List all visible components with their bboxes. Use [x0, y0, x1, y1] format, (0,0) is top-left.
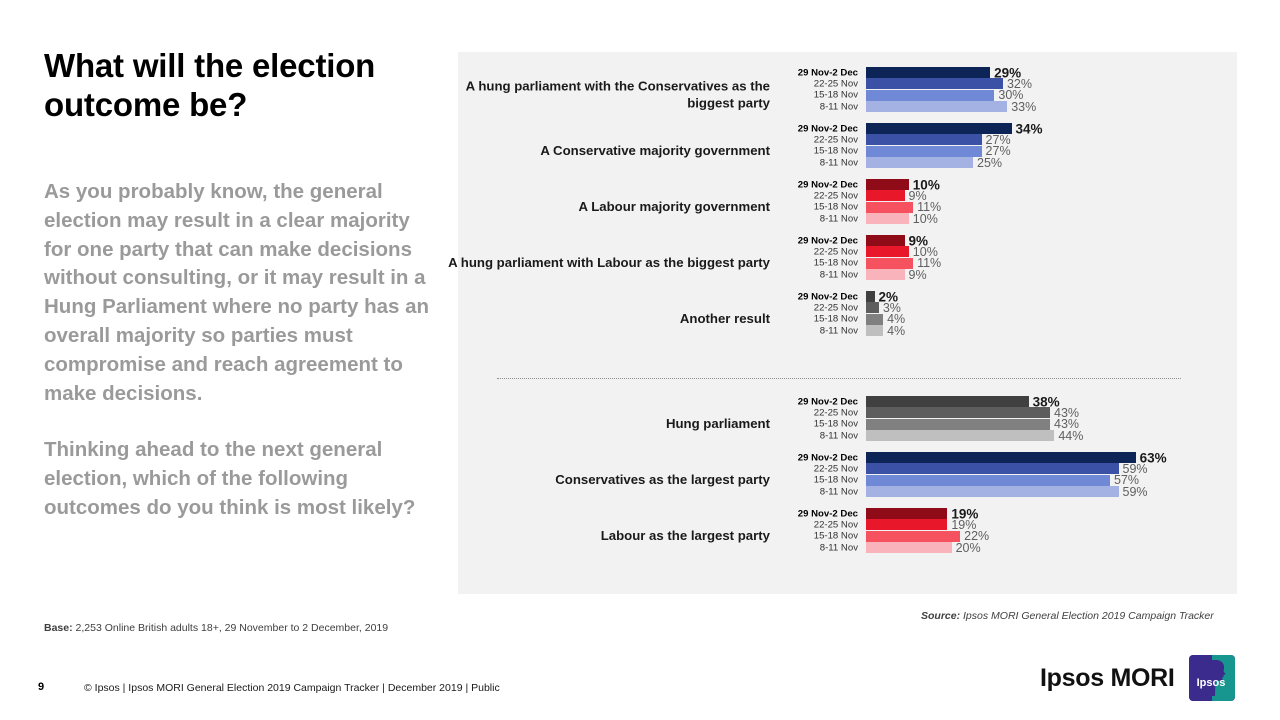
wave-date-label: 29 Nov-2 Dec	[780, 179, 858, 190]
wave-date-label: 15-18 Nov	[780, 314, 858, 325]
bar	[866, 325, 883, 336]
bar	[866, 258, 913, 269]
bar-value-label: 9%	[909, 268, 927, 282]
wave-date-label: 22-25 Nov	[780, 407, 858, 418]
brand-wordmark: Ipsos MORI	[1040, 664, 1175, 693]
bar	[866, 101, 1007, 112]
outcome-group: Labour as the largest party29 Nov-2 Dec1…	[458, 508, 1237, 564]
bar	[866, 486, 1119, 497]
page-title: What will the election outcome be?	[44, 46, 434, 124]
wave-date-label: 22-25 Nov	[780, 463, 858, 474]
wave-date-label: 22-25 Nov	[780, 246, 858, 257]
wave-row: 15-18 Nov30%	[780, 90, 1237, 101]
chart-panel: A hung parliament with the Conservatives…	[458, 52, 1237, 594]
outcome-label-wrap: Conservatives as the largest party	[458, 452, 770, 508]
bar	[866, 67, 990, 78]
wave-date-label: 22-25 Nov	[780, 302, 858, 313]
wave-row: 8-11 Nov59%	[780, 486, 1237, 497]
wave-row: 29 Nov-2 Dec10%	[780, 179, 1237, 190]
svg-text:Ipsos: Ipsos	[1196, 677, 1225, 689]
wave-row: 8-11 Nov33%	[780, 101, 1237, 112]
outcome-label: A Conservative majority government	[440, 143, 770, 160]
bar	[866, 430, 1054, 441]
wave-rows: 29 Nov-2 Dec9%22-25 Nov10%15-18 Nov11%8-…	[780, 235, 1237, 291]
source-note: Source: Ipsos MORI General Election 2019…	[921, 610, 1214, 622]
base-note-label: Base:	[44, 622, 73, 634]
page-number: 9	[38, 681, 44, 693]
wave-date-label: 29 Nov-2 Dec	[780, 235, 858, 246]
wave-date-label: 8-11 Nov	[780, 157, 858, 168]
bar	[866, 235, 905, 246]
outcome-label-wrap: Labour as the largest party	[458, 508, 770, 564]
wave-row: 8-11 Nov10%	[780, 213, 1237, 224]
bar	[866, 269, 905, 280]
brand-lockup: Ipsos MORI Ipsos	[1040, 655, 1235, 701]
outcome-label: Labour as the largest party	[440, 528, 770, 545]
wave-row: 15-18 Nov43%	[780, 419, 1237, 430]
outcome-group: A hung parliament with the Conservatives…	[458, 67, 1237, 123]
wave-rows: 29 Nov-2 Dec38%22-25 Nov43%15-18 Nov43%8…	[780, 396, 1237, 452]
wave-date-label: 15-18 Nov	[780, 146, 858, 157]
outcome-group: A hung parliament with Labour as the big…	[458, 235, 1237, 291]
bar	[866, 246, 909, 257]
wave-row: 22-25 Nov43%	[780, 407, 1237, 418]
wave-date-label: 15-18 Nov	[780, 90, 858, 101]
outcome-label: Conservatives as the largest party	[440, 472, 770, 489]
wave-row: 15-18 Nov11%	[780, 258, 1237, 269]
bar	[866, 302, 879, 313]
bar	[866, 396, 1029, 407]
outcome-label: A hung parliament with the Conservatives…	[440, 79, 770, 112]
wave-row: 15-18 Nov27%	[780, 146, 1237, 157]
wave-rows: 29 Nov-2 Dec34%22-25 Nov27%15-18 Nov27%8…	[780, 123, 1237, 179]
wave-date-label: 22-25 Nov	[780, 190, 858, 201]
wave-row: 22-25 Nov19%	[780, 519, 1237, 530]
outcome-label: A hung parliament with Labour as the big…	[440, 255, 770, 272]
outcome-label-wrap: A hung parliament with the Conservatives…	[458, 67, 770, 123]
wave-row: 29 Nov-2 Dec9%	[780, 235, 1237, 246]
wave-date-label: 29 Nov-2 Dec	[780, 452, 858, 463]
wave-row: 8-11 Nov44%	[780, 430, 1237, 441]
wave-row: 8-11 Nov4%	[780, 325, 1237, 336]
outcome-label-wrap: A Conservative majority government	[458, 123, 770, 179]
bar-value-label: 44%	[1058, 429, 1083, 443]
wave-date-label: 8-11 Nov	[780, 213, 858, 224]
wave-rows: 29 Nov-2 Dec10%22-25 Nov9%15-18 Nov11%8-…	[780, 179, 1237, 235]
source-note-label: Source:	[921, 610, 960, 622]
outcome-label: Another result	[440, 311, 770, 328]
base-note-text: 2,253 Online British adults 18+, 29 Nove…	[76, 622, 389, 634]
wave-row: 22-25 Nov9%	[780, 190, 1237, 201]
bar	[866, 407, 1050, 418]
bar	[866, 519, 947, 530]
question-paragraph-1: As you probably know, the general electi…	[44, 178, 440, 408]
wave-rows: 29 Nov-2 Dec63%22-25 Nov59%15-18 Nov57%8…	[780, 452, 1237, 508]
bar-value-label: 25%	[977, 156, 1002, 170]
outcome-label-wrap: A Labour majority government	[458, 179, 770, 235]
bar	[866, 542, 952, 553]
source-note-text: Ipsos MORI General Election 2019 Campaig…	[963, 610, 1214, 622]
base-note: Base: 2,253 Online British adults 18+, 2…	[44, 622, 388, 634]
wave-date-label: 22-25 Nov	[780, 519, 858, 530]
outcome-label-wrap: A hung parliament with Labour as the big…	[458, 235, 770, 291]
bar	[866, 314, 883, 325]
wave-row: 29 Nov-2 Dec19%	[780, 508, 1237, 519]
bar-value-label: 4%	[887, 324, 905, 338]
outcome-group: Conservatives as the largest party29 Nov…	[458, 452, 1237, 508]
outcome-group: Another result29 Nov-2 Dec2%22-25 Nov3%1…	[458, 291, 1237, 347]
wave-date-label: 8-11 Nov	[780, 486, 858, 497]
wave-date-label: 15-18 Nov	[780, 258, 858, 269]
bar	[866, 291, 875, 302]
bar	[866, 157, 973, 168]
wave-date-label: 8-11 Nov	[780, 269, 858, 280]
outcome-group: A Conservative majority government29 Nov…	[458, 123, 1237, 179]
bar	[866, 419, 1050, 430]
wave-row: 15-18 Nov11%	[780, 202, 1237, 213]
outcome-group: Hung parliament29 Nov-2 Dec38%22-25 Nov4…	[458, 396, 1237, 452]
bar	[866, 213, 909, 224]
wave-rows: 29 Nov-2 Dec2%22-25 Nov3%15-18 Nov4%8-11…	[780, 291, 1237, 347]
bar	[866, 508, 947, 519]
wave-row: 29 Nov-2 Dec2%	[780, 291, 1237, 302]
wave-row: 8-11 Nov9%	[780, 269, 1237, 280]
ipsos-logo-icon: Ipsos	[1189, 655, 1235, 701]
wave-date-label: 29 Nov-2 Dec	[780, 123, 858, 134]
wave-rows: 29 Nov-2 Dec19%22-25 Nov19%15-18 Nov22%8…	[780, 508, 1237, 564]
chart-top-outcomes: A hung parliament with the Conservatives…	[458, 67, 1237, 347]
chart-bottom-combined: Hung parliament29 Nov-2 Dec38%22-25 Nov4…	[458, 396, 1237, 564]
wave-date-label: 29 Nov-2 Dec	[780, 291, 858, 302]
wave-date-label: 29 Nov-2 Dec	[780, 67, 858, 78]
section-divider	[497, 378, 1181, 379]
wave-row: 22-25 Nov10%	[780, 246, 1237, 257]
wave-date-label: 15-18 Nov	[780, 419, 858, 430]
wave-row: 22-25 Nov59%	[780, 463, 1237, 474]
bar	[866, 202, 913, 213]
bar-value-label: 33%	[1011, 100, 1036, 114]
wave-date-label: 8-11 Nov	[780, 325, 858, 336]
wave-date-label: 15-18 Nov	[780, 531, 858, 542]
wave-date-label: 29 Nov-2 Dec	[780, 396, 858, 407]
bar	[866, 475, 1110, 486]
wave-row: 29 Nov-2 Dec38%	[780, 396, 1237, 407]
wave-date-label: 15-18 Nov	[780, 475, 858, 486]
wave-row: 8-11 Nov25%	[780, 157, 1237, 168]
wave-date-label: 15-18 Nov	[780, 202, 858, 213]
outcome-label-wrap: Hung parliament	[458, 396, 770, 452]
wave-rows: 29 Nov-2 Dec29%22-25 Nov32%15-18 Nov30%8…	[780, 67, 1237, 123]
bar-value-label: 59%	[1123, 485, 1148, 499]
wave-date-label: 22-25 Nov	[780, 78, 858, 89]
wave-date-label: 29 Nov-2 Dec	[780, 508, 858, 519]
wave-row: 15-18 Nov57%	[780, 475, 1237, 486]
question-text-block: As you probably know, the general electi…	[44, 178, 440, 523]
outcome-label: A Labour majority government	[440, 199, 770, 216]
bar-value-label: 10%	[913, 212, 938, 226]
bar	[866, 146, 982, 157]
wave-row: 8-11 Nov20%	[780, 542, 1237, 553]
outcome-group: A Labour majority government29 Nov-2 Dec…	[458, 179, 1237, 235]
bar	[866, 531, 960, 542]
wave-date-label: 8-11 Nov	[780, 430, 858, 441]
bar	[866, 179, 909, 190]
wave-date-label: 8-11 Nov	[780, 101, 858, 112]
outcome-label-wrap: Another result	[458, 291, 770, 347]
bar	[866, 78, 1003, 89]
bar	[866, 190, 905, 201]
outcome-label: Hung parliament	[440, 416, 770, 433]
bar-value-label: 20%	[956, 541, 981, 555]
wave-row: 22-25 Nov3%	[780, 302, 1237, 313]
wave-row: 15-18 Nov4%	[780, 314, 1237, 325]
bar	[866, 90, 994, 101]
footer-copyright: © Ipsos | Ipsos MORI General Election 20…	[84, 682, 500, 694]
bar	[866, 452, 1136, 463]
question-paragraph-2: Thinking ahead to the next general elect…	[44, 436, 440, 522]
bar	[866, 134, 982, 145]
wave-row: 15-18 Nov22%	[780, 531, 1237, 542]
wave-row: 29 Nov-2 Dec63%	[780, 452, 1237, 463]
wave-date-label: 22-25 Nov	[780, 134, 858, 145]
wave-date-label: 8-11 Nov	[780, 542, 858, 553]
bar	[866, 463, 1119, 474]
